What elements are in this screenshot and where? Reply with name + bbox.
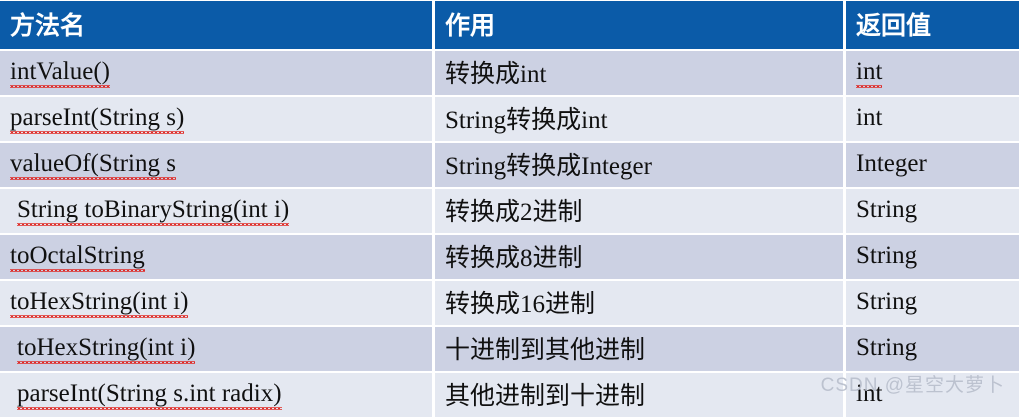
- cell-return-value: String: [846, 189, 1019, 233]
- cell-method-name: valueOf(String s: [0, 143, 432, 187]
- table-row: intValue() 转换成int int: [0, 51, 1019, 95]
- cell-return-value: Integer: [846, 143, 1019, 187]
- cell-usage: 转换成8进制: [435, 235, 843, 279]
- cell-usage: 转换成16进制: [435, 281, 843, 325]
- cell-return-value: int: [846, 373, 1019, 417]
- cell-method-name: parseInt(String s.int radix): [0, 373, 432, 417]
- cell-method-name: String toBinaryString(int i): [0, 189, 432, 233]
- cell-return-value: int: [846, 51, 1019, 95]
- table-row: toHexString(int i) 转换成16进制 String: [0, 281, 1019, 325]
- method-name-text: toHexString(int i): [17, 334, 195, 363]
- cell-return-value: String: [846, 327, 1019, 371]
- table-row: parseInt(String s) String转换成int int: [0, 97, 1019, 141]
- cell-method-name: toHexString(int i): [0, 327, 432, 371]
- cell-method-name: toHexString(int i): [0, 281, 432, 325]
- cell-usage: String转换成Integer: [435, 143, 843, 187]
- table-header: 方法名 作用 返回值: [0, 1, 1019, 49]
- cell-method-name: toOctalString: [0, 235, 432, 279]
- method-name-text: toHexString(int i): [10, 288, 188, 317]
- table-header-row: 方法名 作用 返回值: [0, 1, 1019, 49]
- table-row: parseInt(String s.int radix) 其他进制到十进制 in…: [0, 373, 1019, 417]
- method-reference-table: 方法名 作用 返回值 intValue() 转换成int int parseIn…: [0, 0, 1019, 419]
- method-name-text: String toBinaryString(int i): [17, 196, 289, 225]
- cell-return-value: String: [846, 235, 1019, 279]
- cell-usage: 转换成int: [435, 51, 843, 95]
- column-header-return-value: 返回值: [846, 1, 1019, 49]
- table-body: intValue() 转换成int int parseInt(String s)…: [0, 51, 1019, 417]
- table-row: toOctalString 转换成8进制 String: [0, 235, 1019, 279]
- column-header-usage: 作用: [435, 1, 843, 49]
- cell-method-name: intValue(): [0, 51, 432, 95]
- cell-return-value: String: [846, 281, 1019, 325]
- cell-return-value: int: [846, 97, 1019, 141]
- cell-usage: 其他进制到十进制: [435, 373, 843, 417]
- table-row: toHexString(int i) 十进制到其他进制 String: [0, 327, 1019, 371]
- method-name-text: parseInt(String s.int radix): [17, 380, 282, 409]
- table-row: valueOf(String s String转换成Integer Intege…: [0, 143, 1019, 187]
- cell-method-name: parseInt(String s): [0, 97, 432, 141]
- method-name-text: toOctalString: [10, 242, 145, 271]
- column-header-method-name: 方法名: [0, 1, 432, 49]
- table-row: String toBinaryString(int i) 转换成2进制 Stri…: [0, 189, 1019, 233]
- return-value-text: int: [856, 58, 882, 87]
- cell-usage: String转换成int: [435, 97, 843, 141]
- method-name-text: intValue(): [10, 58, 110, 87]
- cell-usage: 转换成2进制: [435, 189, 843, 233]
- method-name-text: valueOf(String s: [10, 150, 176, 179]
- method-reference-table-container: 方法名 作用 返回值 intValue() 转换成int int parseIn…: [0, 0, 1019, 405]
- method-name-text: parseInt(String s): [10, 104, 184, 133]
- cell-usage: 十进制到其他进制: [435, 327, 843, 371]
